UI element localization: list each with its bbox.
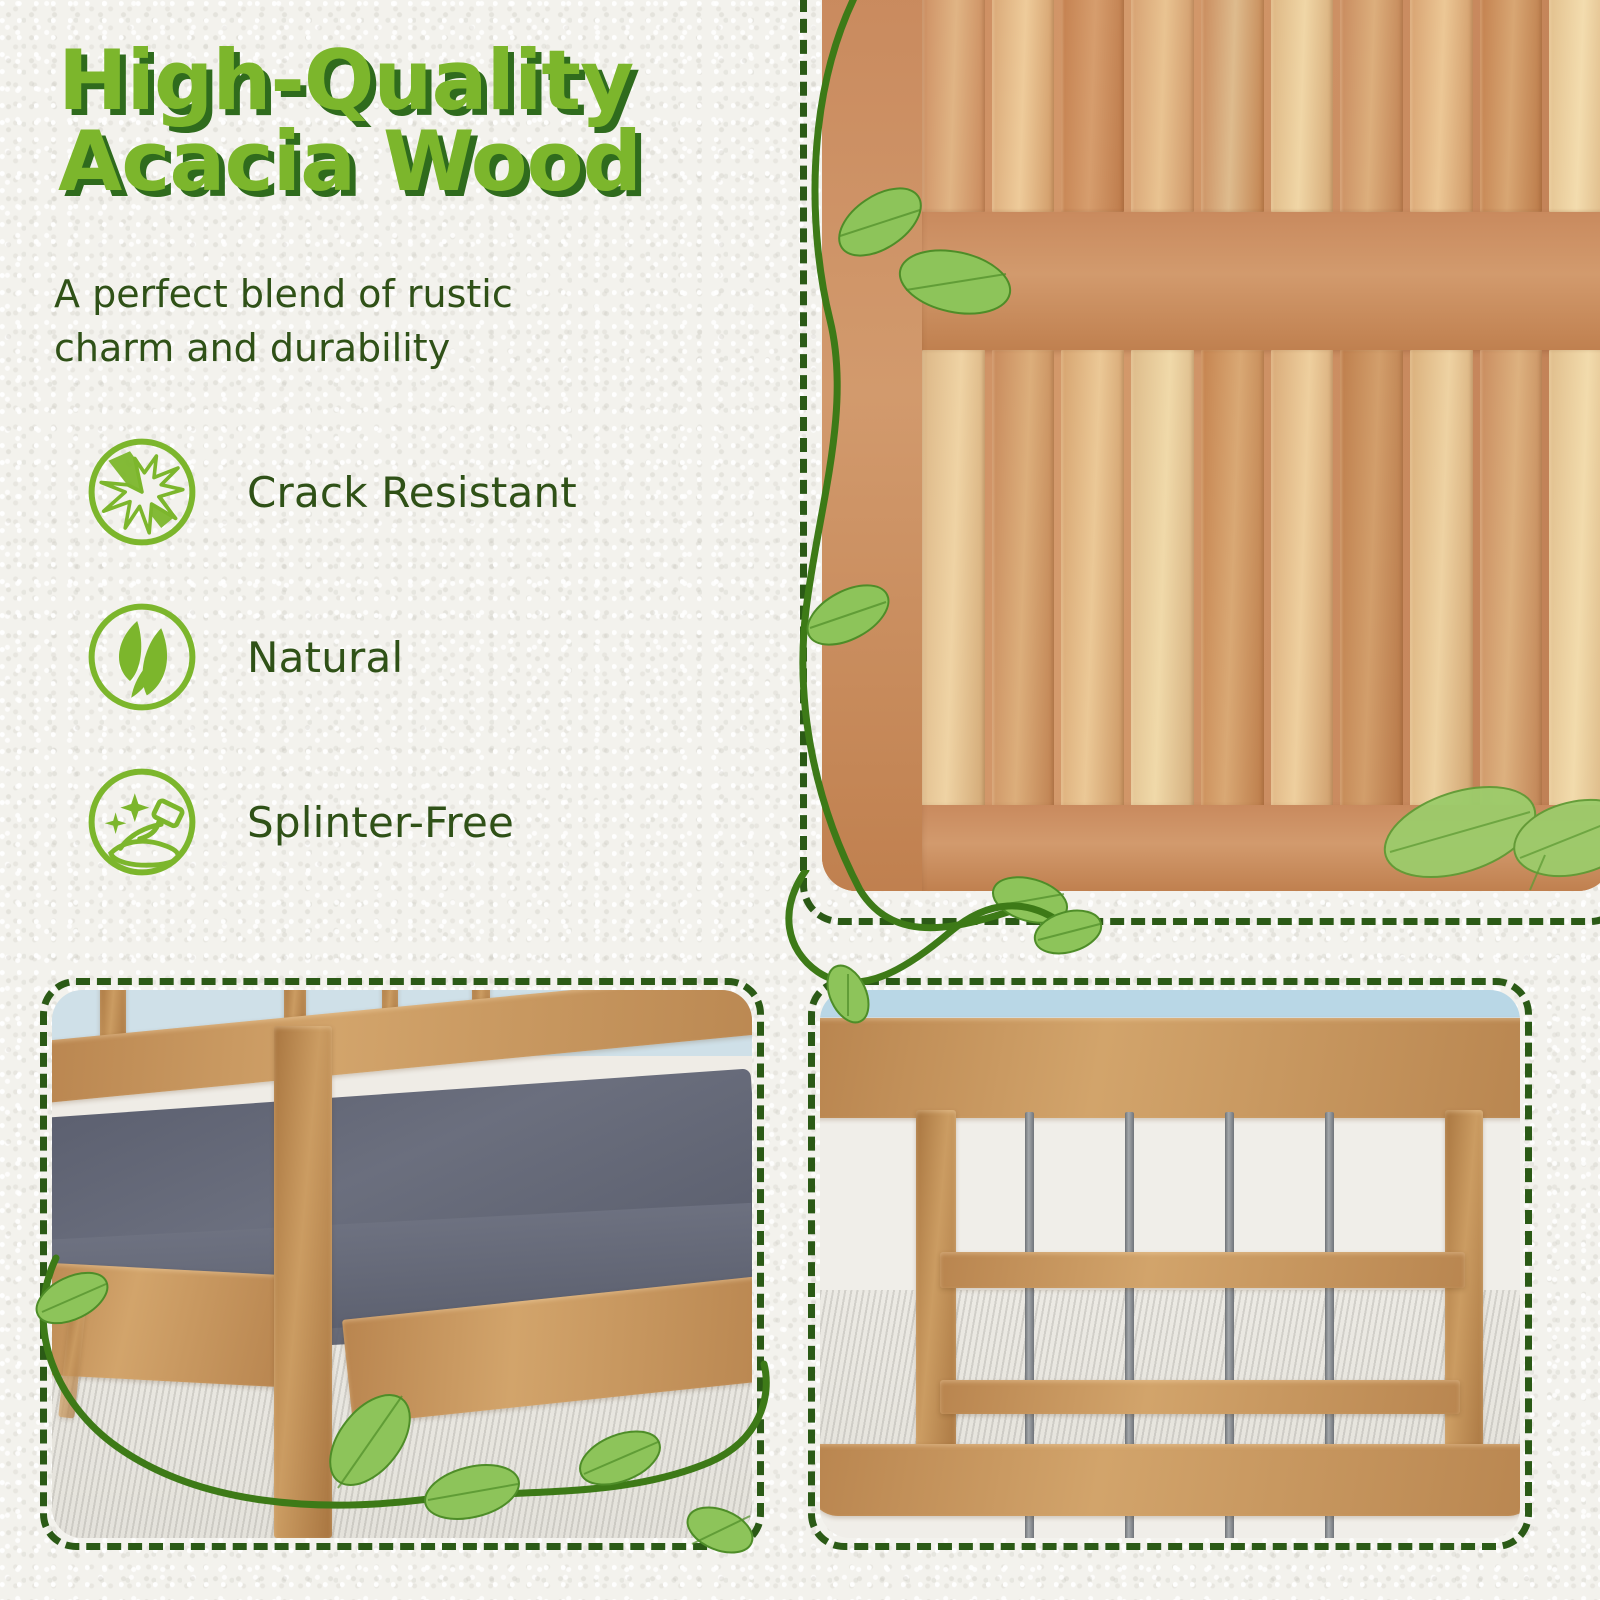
wood-slat-group-upper: [922, 0, 1600, 212]
frame-top-rail: [820, 1018, 1520, 1118]
feature-label: Crack Resistant: [247, 468, 577, 517]
natural-leaf-icon: [82, 597, 202, 717]
feature-item-crack-resistant: Crack Resistant: [82, 437, 722, 547]
wood-slat-group-lower: [922, 350, 1600, 813]
feature-list: Crack Resistant Natural: [82, 437, 722, 932]
frame-right-stile: [1445, 1110, 1483, 1490]
frame-left-stile: [916, 1110, 956, 1490]
page-title: High-Quality Acacia Wood: [58, 40, 758, 203]
wood-left-edge: [822, 0, 922, 891]
feature-label: Natural: [247, 633, 403, 682]
subtitle: A perfect blend of rustic charm and dura…: [54, 268, 614, 376]
splinter-free-icon: [82, 762, 202, 882]
text-column: High-Quality Acacia Wood A perfect blend…: [0, 0, 790, 960]
frame-mid-rail-upper: [940, 1252, 1465, 1288]
feature-item-natural: Natural: [82, 602, 722, 712]
corner-post: [274, 1026, 332, 1538]
feature-item-splinter-free: Splinter-Free: [82, 767, 722, 877]
feature-label: Splinter-Free: [247, 798, 514, 847]
frame-mid-rail-lower: [940, 1380, 1460, 1414]
wood-cross-rail: [918, 212, 1600, 350]
frame-bottom-rail: [820, 1444, 1520, 1516]
crack-resistant-icon: [82, 432, 202, 552]
wood-bottom-rail: [822, 805, 1600, 891]
sofa-cushion-detail-photo: [52, 990, 752, 1538]
seat-side-apron: [52, 1262, 282, 1387]
headline-line-2: Acacia Wood: [58, 121, 758, 202]
frame-slat-detail-photo: [820, 990, 1520, 1538]
wood-tabletop-photo: [822, 0, 1600, 891]
